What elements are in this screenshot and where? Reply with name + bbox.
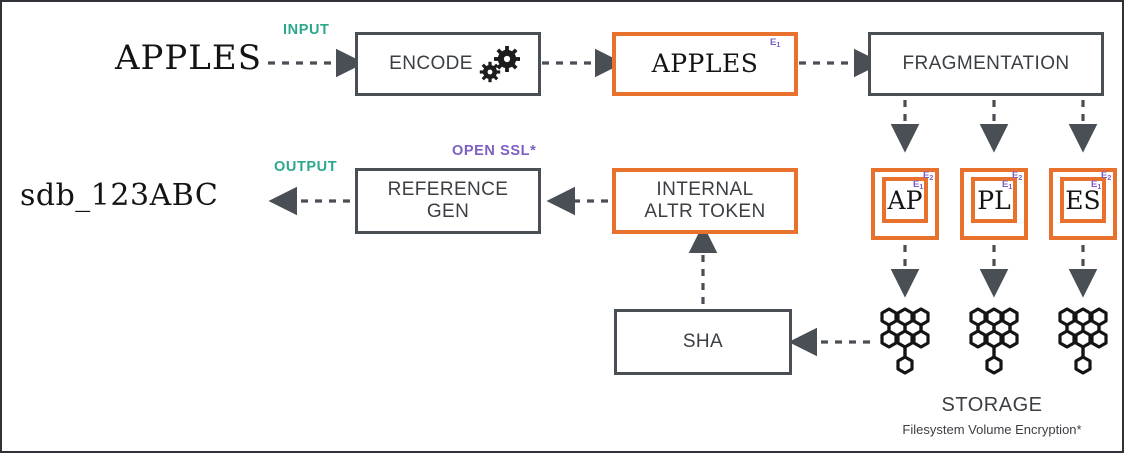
diagram-canvas: APPLES sdb_123ABC INPUT OUTPUT OPEN SSL*… xyxy=(0,0,1124,453)
fragment-outer-e-tag-1: E2 xyxy=(1012,171,1022,181)
node-fragmentation-label: FRAGMENTATION xyxy=(902,53,1069,75)
fragment-label-1: PL xyxy=(977,188,1010,213)
fragment-inner-e-tag-1: E1 xyxy=(1002,180,1012,190)
node-internal-altr-token-label-line1: INTERNAL xyxy=(656,179,753,201)
node-encode-label: ENCODE xyxy=(389,53,473,75)
storage-subtitle: Filesystem Volume Encryption* xyxy=(862,422,1122,437)
fragment-label-2: ES xyxy=(1065,188,1100,213)
apples-encoded-e-tag: E1 xyxy=(770,38,780,48)
node-internal-altr-token-label-line2: ALTR TOKEN xyxy=(644,201,765,223)
node-internal-altr-token[interactable]: INTERNAL ALTR TOKEN xyxy=(612,168,798,234)
fragment-outer-e-tag-0: E2 xyxy=(923,171,933,181)
node-fragmentation[interactable]: FRAGMENTATION xyxy=(868,32,1104,96)
node-reference-gen[interactable]: REFERENCE GEN xyxy=(355,168,541,234)
blockchain-nodes-icon-2 xyxy=(1053,305,1113,388)
input-value: APPLES xyxy=(115,38,262,78)
node-reference-gen-label-line1: REFERENCE xyxy=(388,179,509,201)
output-value: sdb_123ABC xyxy=(20,178,218,213)
output-edge-label: OUTPUT xyxy=(274,159,337,175)
input-edge-label: INPUT xyxy=(283,22,330,38)
fragment-outer-e-tag-2: E2 xyxy=(1101,171,1111,181)
node-sha-label: SHA xyxy=(683,331,723,353)
openssl-annotation: OPEN SSL* xyxy=(452,143,536,159)
fragment-inner-e-tag-0: E1 xyxy=(913,180,923,190)
fragment-inner-e-tag-2: E1 xyxy=(1091,180,1101,190)
storage-title: STORAGE xyxy=(877,394,1107,417)
blockchain-nodes-icon-1 xyxy=(964,305,1024,388)
fragment-label-0: AP xyxy=(888,188,923,213)
gears-icon xyxy=(478,46,524,84)
blockchain-nodes-icon-0 xyxy=(875,305,935,388)
node-sha[interactable]: SHA xyxy=(614,309,792,375)
node-apples-encoded-label: APPLES xyxy=(652,49,759,79)
node-reference-gen-label-line2: GEN xyxy=(427,201,469,223)
